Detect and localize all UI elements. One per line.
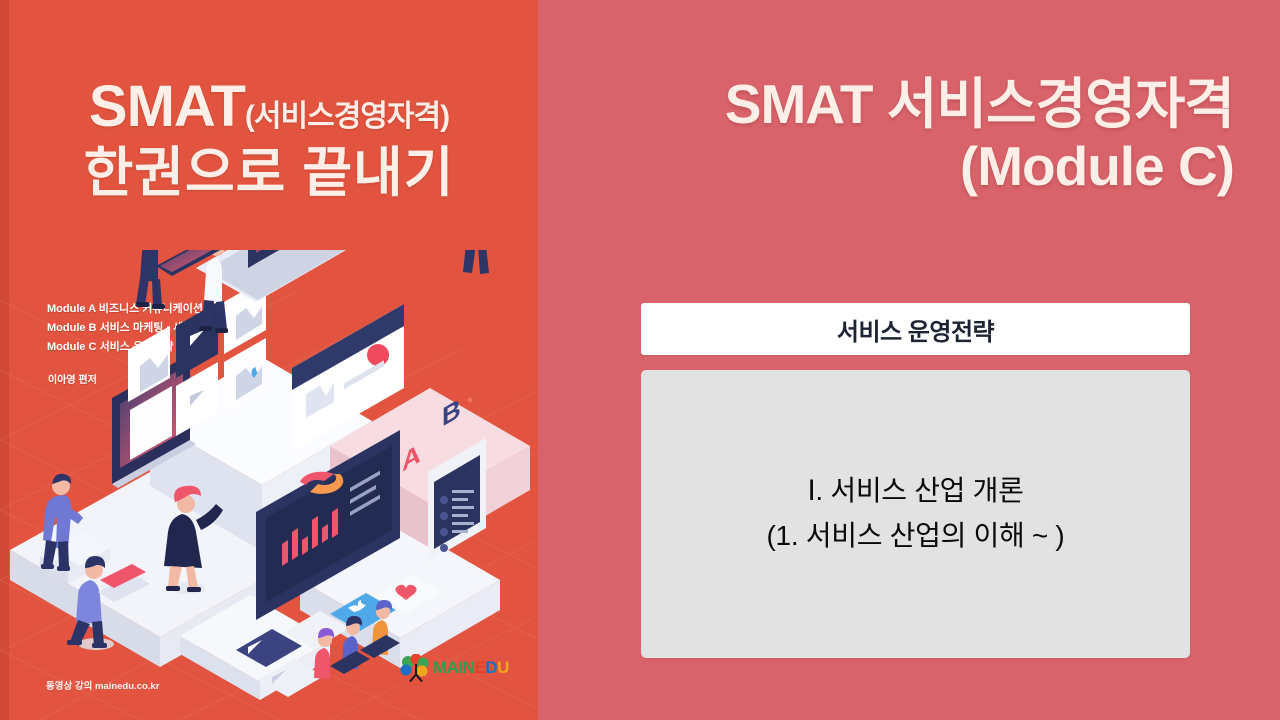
section-header-text: 서비스 운영전략 bbox=[837, 312, 994, 347]
slide-title-line2: (Module C) bbox=[558, 136, 1234, 198]
content-line-1: Ⅰ. 서비스 산업 개론 bbox=[807, 470, 1023, 513]
slide-content-panel: SMAT 서비스경영자격 (Module C) 서비스 운영전략 Ⅰ. 서비스 … bbox=[538, 0, 1280, 720]
cover-title-block: SMAT(서비스경영자격) 한권으로 끝내기 bbox=[0, 78, 538, 200]
cover-title-smat: SMAT bbox=[89, 74, 245, 139]
person-right-standing bbox=[463, 250, 489, 274]
book-cover: SMAT(서비스경영자격) 한권으로 끝내기 Module A 비즈니스 커뮤니… bbox=[0, 0, 538, 720]
presentation-slide: SMAT(서비스경영자격) 한권으로 끝내기 Module A 비즈니스 커뮤니… bbox=[0, 0, 1280, 720]
section-content-box: Ⅰ. 서비스 산업 개론 (1. 서비스 산업의 이해 ~ ) bbox=[641, 370, 1190, 658]
section-header-box: 서비스 운영전략 bbox=[641, 303, 1190, 355]
mainedu-logo-text: MAINEDU bbox=[433, 658, 509, 678]
slide-title: SMAT 서비스경영자격 (Module C) bbox=[558, 74, 1234, 197]
isometric-illustration: A B bbox=[0, 250, 538, 720]
cover-website: 동영상 강의 mainedu.co.kr bbox=[46, 678, 159, 692]
slide-title-line1: SMAT 서비스경영자격 bbox=[558, 74, 1234, 136]
content-line-2: (1. 서비스 산업의 이해 ~ ) bbox=[767, 515, 1065, 558]
cover-title-paren: (서비스경영자격) bbox=[245, 100, 449, 133]
cover-title-sub: 한권으로 끝내기 bbox=[0, 146, 538, 200]
mainedu-logo: MAINEDU bbox=[400, 654, 509, 682]
mainedu-mascot-icon bbox=[400, 654, 430, 682]
